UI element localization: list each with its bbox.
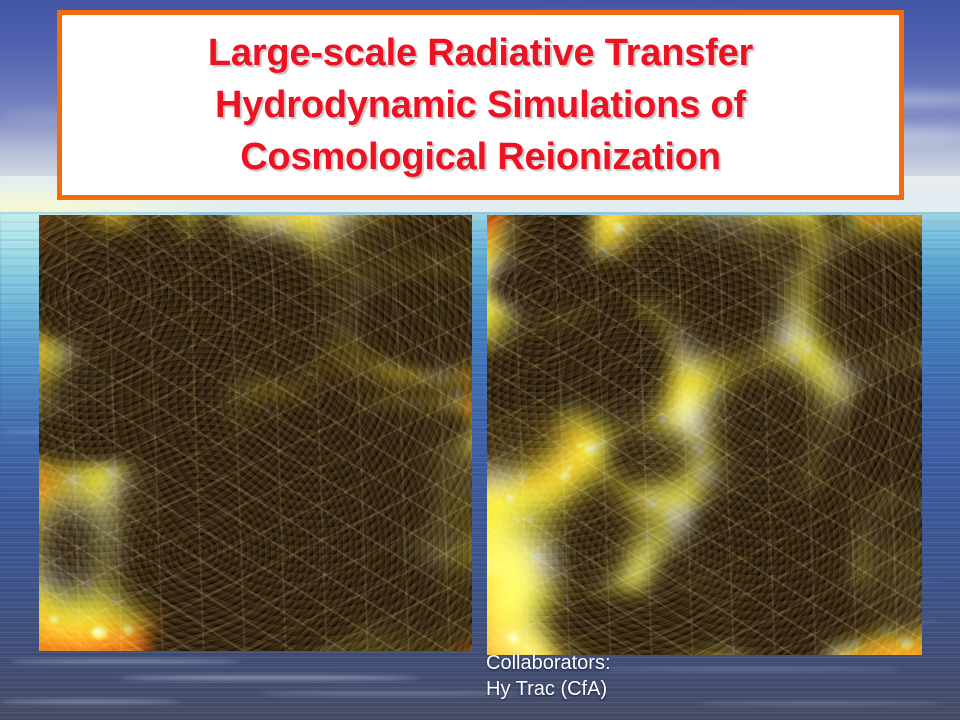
simulation-grain bbox=[487, 215, 922, 655]
title-box: Large-scale Radiative Transfer Hydrodyna… bbox=[57, 10, 904, 200]
wave-streak bbox=[260, 692, 520, 695]
collaborators-heading: Collaborators: bbox=[486, 650, 611, 676]
wave-streak bbox=[10, 660, 240, 663]
wave-streak bbox=[700, 702, 940, 705]
simulation-image-right bbox=[487, 215, 922, 655]
collaborator-name: Hy Trac (CfA) bbox=[486, 676, 611, 702]
presentation-slide: Large-scale Radiative Transfer Hydrodyna… bbox=[0, 0, 960, 720]
simulation-image-left bbox=[39, 215, 472, 651]
title-line-2: Hydrodynamic Simulations of bbox=[215, 79, 746, 131]
wave-streak bbox=[600, 668, 900, 671]
simulation-grain bbox=[39, 215, 472, 651]
title-line-1: Large-scale Radiative Transfer bbox=[208, 27, 753, 79]
wave-streak bbox=[0, 700, 180, 703]
collaborators-block: Collaborators: Hy Trac (CfA) bbox=[486, 650, 611, 702]
wave-streak bbox=[120, 676, 420, 680]
title-line-3: Cosmological Reionization bbox=[240, 131, 721, 183]
